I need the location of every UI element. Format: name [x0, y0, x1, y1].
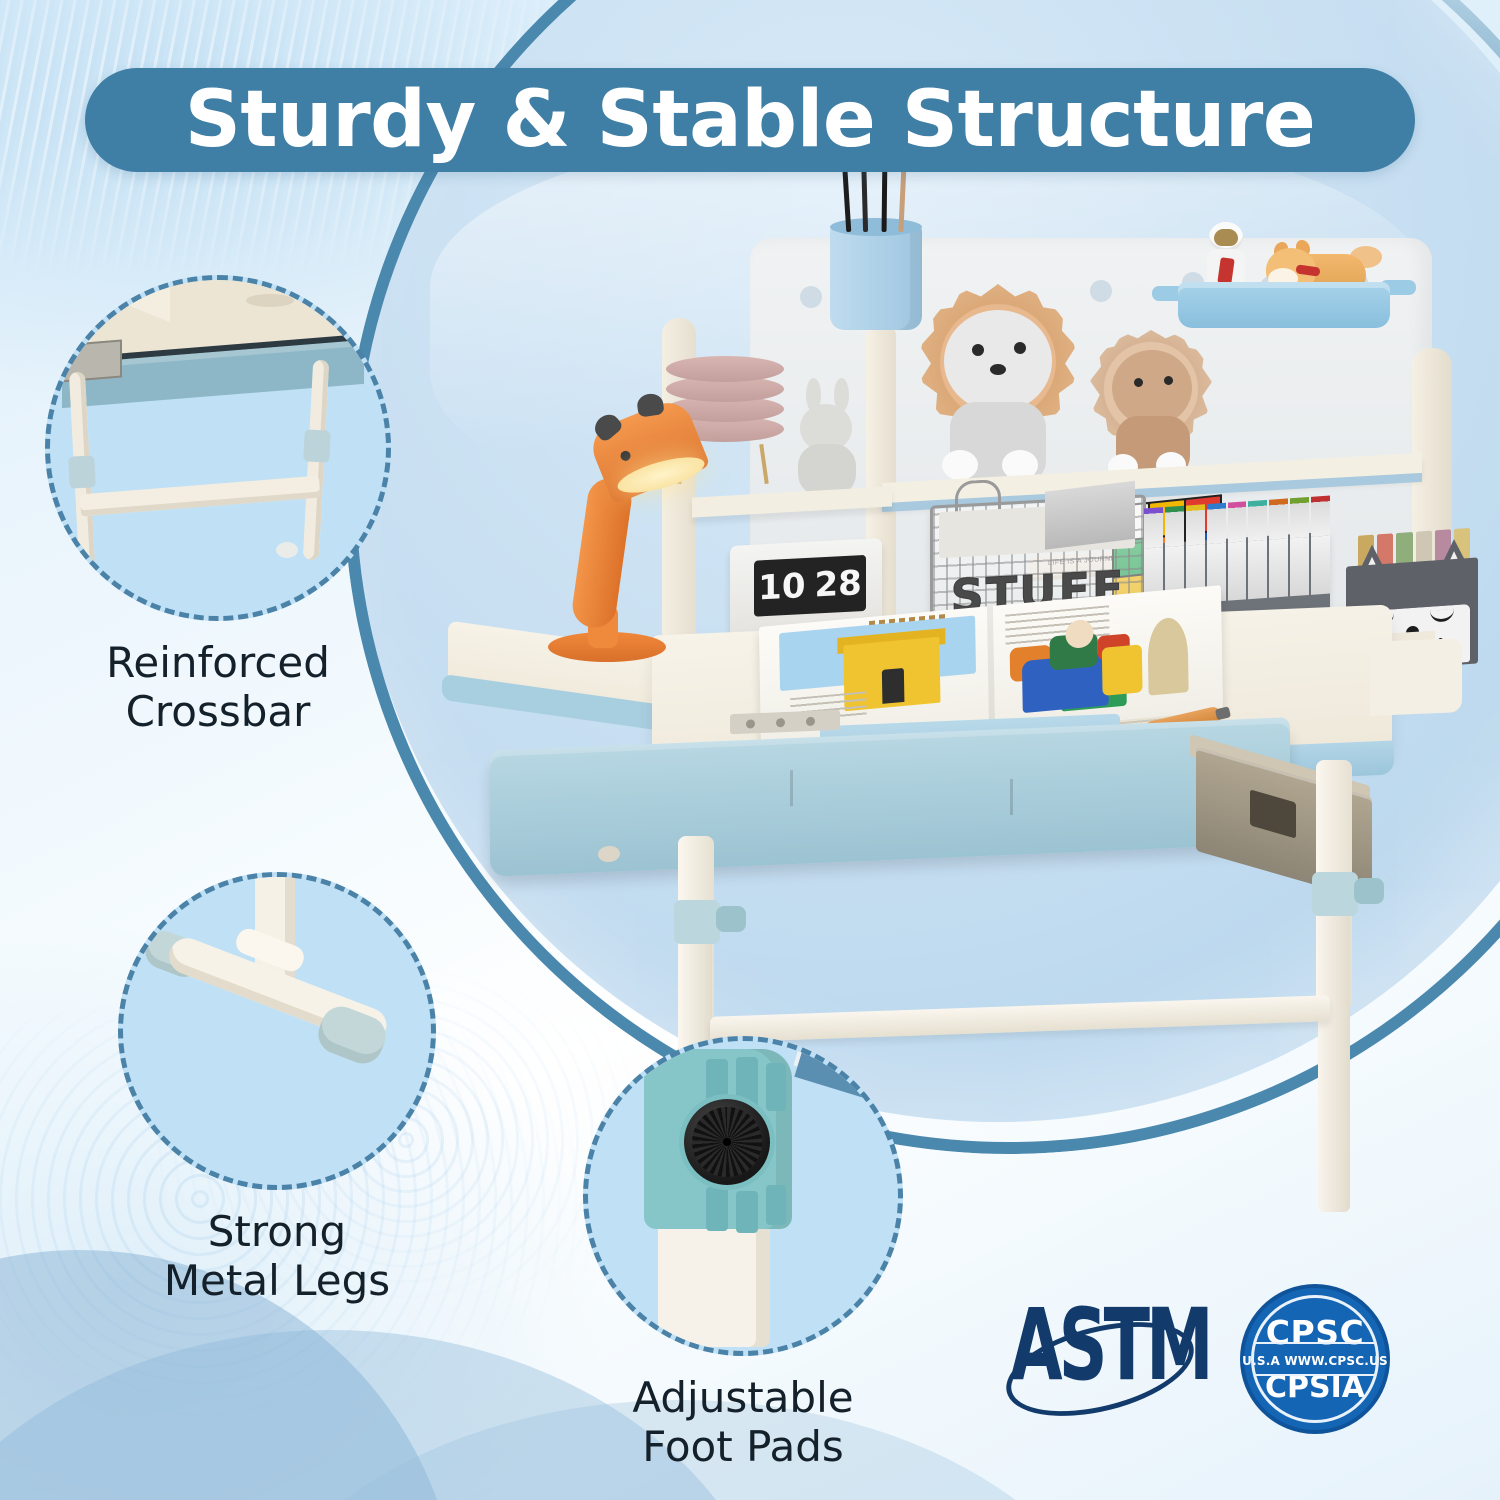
- binder: [1144, 507, 1163, 548]
- binder-body: [1290, 537, 1309, 596]
- hutch-peg-dot: [1090, 280, 1112, 302]
- binder: [1165, 506, 1184, 547]
- astm-badge: ASTM: [1010, 1293, 1178, 1425]
- lion-plush-small: [1090, 330, 1212, 488]
- pen: [898, 162, 906, 232]
- callout-feet-image: [583, 1036, 903, 1356]
- callout-reinforced-crossbar: Reinforced Crossbar: [45, 275, 391, 736]
- clock-hour: 10: [758, 569, 805, 605]
- lion-plush-large: [920, 284, 1076, 484]
- hutch-peg-dot: [800, 286, 822, 308]
- binder: [1207, 503, 1226, 544]
- binder: [1269, 498, 1288, 539]
- callout-adjustable-foot-pads: Adjustable Foot Pads: [583, 1036, 903, 1471]
- leg-right-collar: [1312, 872, 1358, 916]
- binder-body: [1228, 541, 1247, 600]
- leg-right-lower: [1318, 890, 1350, 1212]
- certification-badges: ASTM CPSC U.S.A WWW.CPSC.US CPSIA: [1010, 1284, 1410, 1434]
- leg-left-knob: [716, 906, 746, 932]
- binder-body: [1248, 540, 1267, 599]
- clock-minute: 28: [815, 566, 862, 602]
- binder-body: [1311, 535, 1330, 594]
- binder: [1248, 500, 1267, 541]
- pen-cup: [830, 222, 922, 330]
- callout-strong-metal-legs: Strong Metal Legs: [118, 872, 436, 1305]
- cpsc-badge: CPSC U.S.A WWW.CPSC.US CPSIA: [1240, 1284, 1390, 1434]
- title-banner: Sturdy & Stable Structure: [85, 68, 1415, 172]
- callout-crossbar-image: [45, 275, 391, 621]
- marketing-image: LIFE IS A JOURNEY 10 28 STUFF: [0, 0, 1500, 1500]
- leg-left-collar: [674, 900, 720, 944]
- binder: [1228, 501, 1247, 542]
- binder: [1290, 497, 1309, 538]
- binder: [1311, 495, 1330, 536]
- desk-right-wing: [1370, 638, 1462, 716]
- bunny-plush: [790, 390, 866, 498]
- leg-right-knob: [1354, 878, 1384, 904]
- wall-tray-shelf: [1178, 282, 1390, 328]
- binder-body: [1269, 538, 1288, 597]
- page-title: Sturdy & Stable Structure: [185, 81, 1316, 159]
- binder: [1186, 504, 1205, 545]
- callout-legs-image: [118, 872, 436, 1190]
- callout-crossbar-label: Reinforced Crossbar: [45, 639, 391, 736]
- callout-legs-label: Strong Metal Legs: [118, 1208, 436, 1305]
- callout-feet-label: Adjustable Foot Pads: [583, 1374, 903, 1471]
